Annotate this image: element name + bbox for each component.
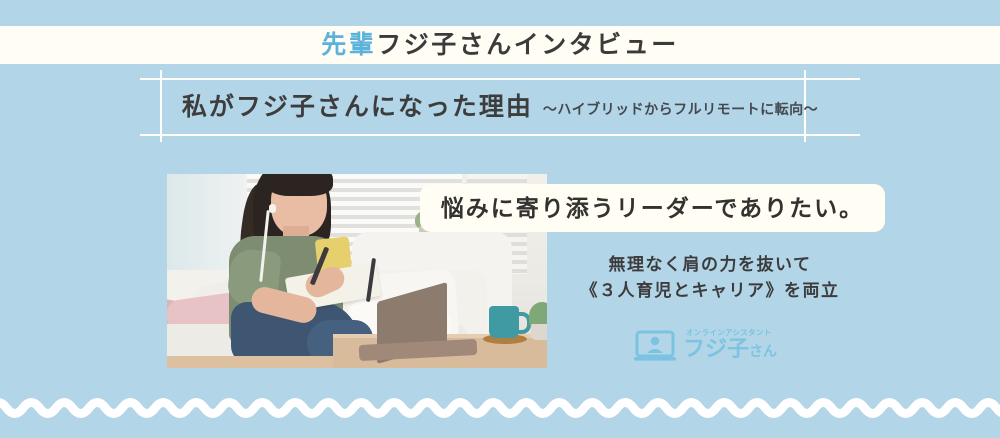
subtitle-inner: 私がフジ子さんになった理由 ～ハイブリッドからフルリモートに転向～ — [140, 78, 860, 136]
photo-person-earbud — [269, 204, 276, 213]
subtitle-main: 私がフジ子さんになった理由 — [182, 95, 533, 120]
lead-copy-line-2: 《３人育児とキャリア》を両立 — [565, 278, 855, 304]
logo-name-main: フジ子 — [683, 336, 749, 361]
lead-copy: 無理なく肩の力を抜いて 《３人育児とキャリア》を両立 — [565, 252, 855, 304]
subtitle-sub: ～ハイブリッドからフルリモートに転向～ — [543, 98, 818, 116]
fujiko-logo[interactable]: オンラインアシスタント フジ子さん — [634, 326, 784, 366]
wave-divider — [0, 394, 1000, 420]
interview-banner: 先輩フジ子さんインタビュー 私がフジ子さんになった理由 ～ハイブリッドからフルリ… — [0, 0, 1000, 438]
subtitle-block: 私がフジ子さんになった理由 ～ハイブリッドからフルリモートに転向～ — [140, 78, 860, 136]
page-title-accent: 先輩 — [321, 31, 376, 59]
logo-name: フジ子さん — [683, 338, 777, 360]
pull-quote-text: 悩みに寄り添うリーダーでありたい。 — [441, 197, 864, 220]
logo-name-suffix: さん — [749, 343, 777, 359]
logo-wordmark: オンラインアシスタント フジ子さん — [683, 329, 783, 363]
title-band: 先輩フジ子さんインタビュー — [0, 26, 1000, 64]
page-title: 先輩フジ子さんインタビュー — [321, 33, 679, 58]
lead-copy-line-1: 無理なく肩の力を抜いて — [565, 252, 855, 278]
pull-quote-box: 悩みに寄り添うリーダーでありたい。 — [420, 184, 885, 232]
photo-person-fringe — [265, 174, 333, 196]
laptop-person-icon — [634, 330, 676, 363]
photo-succulent-pot — [531, 324, 547, 340]
page-title-rest: フジ子さんインタビュー — [376, 31, 679, 59]
